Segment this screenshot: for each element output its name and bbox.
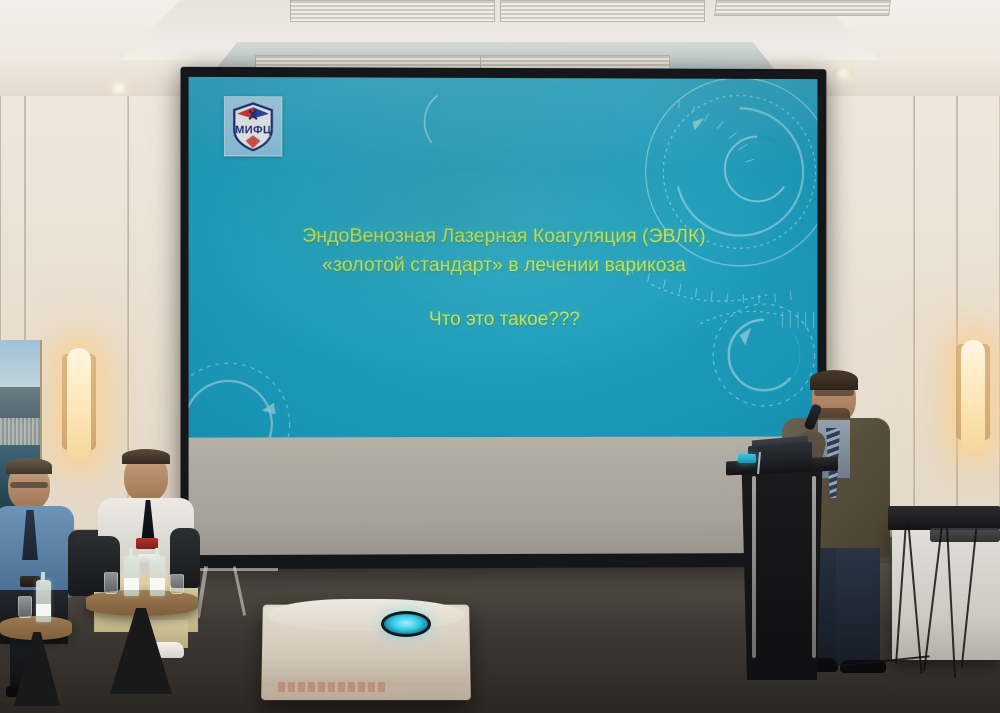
presenter-leg-right bbox=[836, 548, 880, 666]
hvac-vent-icon bbox=[714, 0, 891, 16]
bottle-neck bbox=[41, 572, 45, 582]
ceiling-downlight-icon bbox=[108, 82, 130, 94]
podium-rail bbox=[812, 476, 816, 658]
screen-blank-area bbox=[189, 437, 818, 555]
drinking-glass bbox=[18, 596, 32, 618]
person-left-glasses-icon bbox=[10, 482, 48, 488]
hvac-vent-icon bbox=[500, 0, 705, 22]
drinking-glass bbox=[104, 572, 118, 594]
screen-surface: МИФЦ ЭндоВенозная Лазерная Коагуляция (Э… bbox=[189, 77, 818, 555]
projector-lens-icon bbox=[381, 611, 431, 637]
hvac-vent-icon bbox=[290, 0, 495, 22]
bottle-label bbox=[150, 578, 165, 590]
ceiling-downlight-icon bbox=[832, 68, 854, 80]
drinking-glass bbox=[170, 574, 184, 594]
person-right-hair bbox=[122, 449, 170, 464]
mifc-logo: МИФЦ bbox=[224, 96, 282, 156]
projection-screen: МИФЦ ЭндоВенозная Лазерная Коагуляция (Э… bbox=[181, 67, 827, 569]
gooseneck-microphone-icon bbox=[738, 454, 756, 463]
presentation-slide: МИФЦ ЭндоВенозная Лазерная Коагуляция (Э… bbox=[189, 77, 818, 438]
presentation-room-scene: МИФЦ ЭндоВенозная Лазерная Коагуляция (Э… bbox=[0, 0, 1000, 713]
logo-shield: МИФЦ bbox=[225, 97, 281, 155]
projector-warning-label bbox=[278, 682, 388, 692]
wall-sconce-light-icon bbox=[961, 340, 985, 452]
water-bottle bbox=[150, 556, 165, 596]
slide-highlight bbox=[189, 77, 818, 172]
presenter-hair bbox=[810, 370, 858, 390]
slide-title-line-2: «золотой стандарт» в лечении варикоза bbox=[189, 250, 818, 279]
water-bottle bbox=[124, 556, 139, 596]
wall-sconce-light-icon bbox=[67, 348, 91, 460]
logo-text: МИФЦ bbox=[225, 125, 281, 137]
bottle-label bbox=[124, 578, 139, 590]
podium-rail bbox=[752, 476, 756, 658]
banner-city bbox=[0, 418, 40, 445]
person-left-hair bbox=[6, 458, 52, 474]
slide-question-line: Что это такое??? bbox=[189, 309, 818, 331]
slide-text-block: ЭндоВенозная Лазерная Коагуляция (ЭВЛК) … bbox=[189, 221, 818, 331]
bottle-label bbox=[36, 604, 51, 616]
screen-stand-bar bbox=[196, 568, 278, 571]
presenter-glasses-icon bbox=[814, 389, 854, 396]
projector-top bbox=[268, 599, 464, 631]
bottle-neck bbox=[155, 548, 159, 558]
slide-title-line-1: ЭндоВенозная Лазерная Коагуляция (ЭВЛК) bbox=[189, 221, 818, 251]
bottle-neck bbox=[129, 548, 133, 558]
banner-hill bbox=[0, 387, 40, 422]
